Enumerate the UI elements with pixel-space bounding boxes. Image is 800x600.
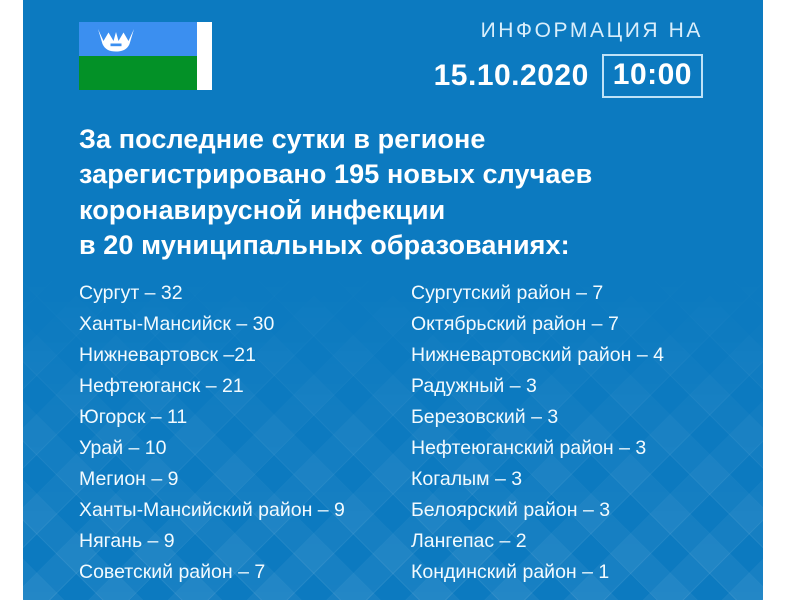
list-item: Югорск – 11 [79,402,399,433]
info-datetime-block: ИНФОРМАЦИЯ НА 15.10.2020 10:00 [434,20,703,98]
list-item: Кондинский район – 1 [411,557,761,588]
list-item: Ханты-Мансийск – 30 [79,309,399,340]
list-item: Когалым – 3 [411,464,761,495]
headline-line-1: За последние сутки в регионе [79,122,719,157]
header: ИНФОРМАЦИЯ НА 15.10.2020 10:00 [23,0,763,110]
flag-green-band [79,56,197,90]
list-item: Нефтеюганск – 21 [79,371,399,402]
info-label: ИНФОРМАЦИЯ НА [434,20,703,41]
headline-line-2: зарегистрировано 195 новых случаев [79,157,719,192]
info-date: 15.10.2020 [434,61,589,91]
list-item: Нижневартовск –21 [79,340,399,371]
crown-emblem-icon [96,27,136,53]
list-item: Белоярский район – 3 [411,495,761,526]
list-item: Нижневартовский район – 4 [411,340,761,371]
khanty-mansi-autonomous-okrug-flag-icon [79,22,212,90]
info-datetime-row: 15.10.2020 10:00 [434,54,703,98]
municipality-list-right: Сургутский район – 7 Октябрьский район –… [411,278,761,588]
municipality-list-left: Сургут – 32 Ханты-Мансийск – 30 Нижневар… [79,278,399,588]
headline: За последние сутки в регионе зарегистрир… [79,122,719,263]
flag-body [79,22,197,90]
list-item: Нефтеюганский район – 3 [411,433,761,464]
list-item: Лангепас – 2 [411,526,761,557]
list-item: Советский район – 7 [79,557,399,588]
list-item: Радужный – 3 [411,371,761,402]
municipality-lists: Сургут – 32 Ханты-Мансийск – 30 Нижневар… [23,278,763,588]
list-item: Сургутский район – 7 [411,278,761,309]
list-item: Мегион – 9 [79,464,399,495]
list-item: Урай – 10 [79,433,399,464]
list-item: Сургут – 32 [79,278,399,309]
flag-white-stripe [197,22,212,90]
headline-line-3: коронавирусной инфекции [79,193,719,228]
headline-line-4: в 20 муниципальных образованиях: [79,228,719,263]
infographic-poster: ИНФОРМАЦИЯ НА 15.10.2020 10:00 За послед… [0,0,800,600]
list-item: Ханты-Мансийский район – 9 [79,495,399,526]
info-time-badge: 10:00 [602,54,703,98]
list-item: Октябрьский район – 7 [411,309,761,340]
list-item: Нягань – 9 [79,526,399,557]
blue-panel: ИНФОРМАЦИЯ НА 15.10.2020 10:00 За послед… [23,0,763,600]
flag-blue-band [79,22,197,56]
list-item: Березовский – 3 [411,402,761,433]
